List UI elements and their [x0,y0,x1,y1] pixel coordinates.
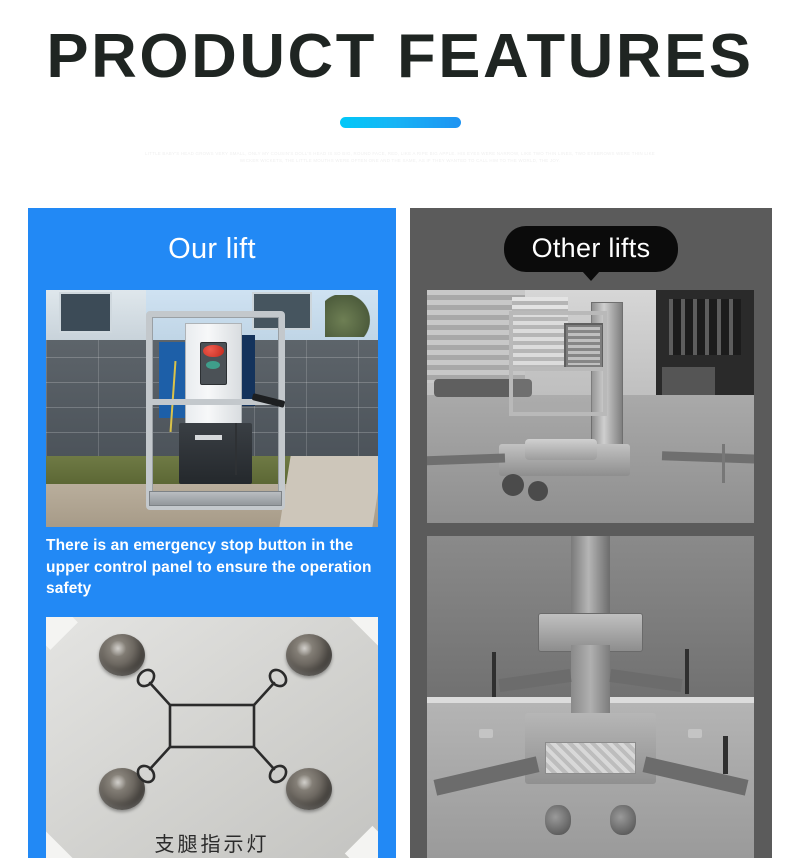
outrigger-foot [722,444,725,484]
outrigger-post [723,736,728,775]
photo-scene-indicator-panel: 支腿指示灯 [46,617,378,858]
pavement-path [279,456,378,527]
panel-left-heading: Our lift [168,233,256,266]
photo-our-lift-control-panel [46,290,378,527]
window-left [59,292,112,332]
guard-rail-frame [146,311,285,510]
page-title: PRODUCT FEATURES [0,26,800,88]
wheel [610,805,636,835]
platform-cage-midbar [509,367,607,371]
tread-plate [545,742,637,774]
photo-scene-other-lift [427,290,754,523]
outrigger-pad [688,729,702,738]
photo-scene-lift-platform [46,290,378,527]
panel-left-header: Our lift [28,208,396,290]
filler-paragraph: LITTLE BABY'S HEAD GROWS VERY SMALL, ONL… [140,150,660,165]
page-header: PRODUCT FEATURES LITTLE BABY'S HEAD GROW… [0,0,800,165]
outrigger-diagram-icon [46,617,378,858]
photo-scene-other-lift-base [427,536,754,858]
photo-other-lift-base [427,536,754,858]
power-hood [525,439,597,460]
outrigger-post [685,649,689,694]
outrigger-post [492,652,496,697]
panel-right-heading-bubble: Other lifts [504,226,679,272]
photo-other-lift-full [427,290,754,523]
photo-outrigger-indicator-panel: 支腿指示灯 [46,617,378,858]
comparison-panels: Our lift [0,208,800,858]
platform-deck [149,491,282,505]
wheel [545,805,571,835]
outrigger-pad [479,729,493,738]
panel-right-header: Other lifts [410,208,772,290]
platform-cage [509,311,607,416]
outrigger-indicator-label: 支腿指示灯 [46,828,378,857]
panel-left-caption: There is an emergency stop button in the… [46,535,391,600]
tree [325,295,371,338]
panel-our-lift: Our lift [28,208,396,858]
workshop-windows [669,299,741,355]
panel-other-lifts: Other lifts [410,208,772,858]
title-accent-bar [340,117,461,128]
crates [662,367,714,395]
